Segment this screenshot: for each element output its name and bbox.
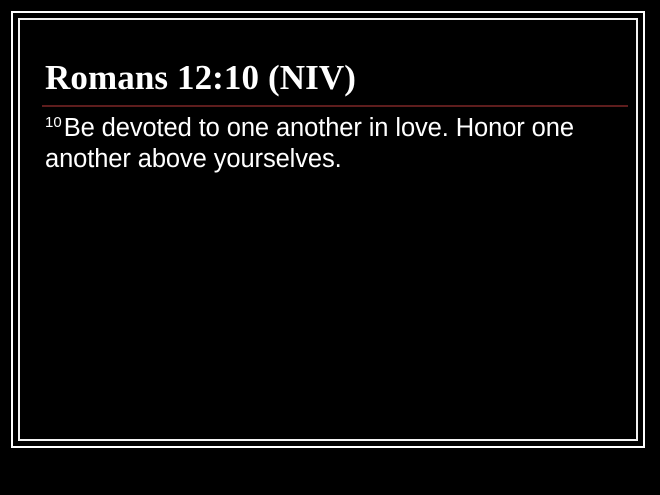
- page-title: Romans 12:10 (NIV): [42, 58, 628, 98]
- scripture-body: 10Be devoted to one another in love. Hon…: [42, 113, 615, 175]
- presentation-slide: Romans 12:10 (NIV) 10Be devoted to one a…: [0, 0, 660, 495]
- title-divider: [42, 105, 628, 107]
- verse-number: 10: [45, 114, 64, 131]
- scripture-text: Be devoted to one another in love. Honor…: [45, 114, 574, 173]
- slide-content: Romans 12:10 (NIV) 10Be devoted to one a…: [42, 58, 628, 428]
